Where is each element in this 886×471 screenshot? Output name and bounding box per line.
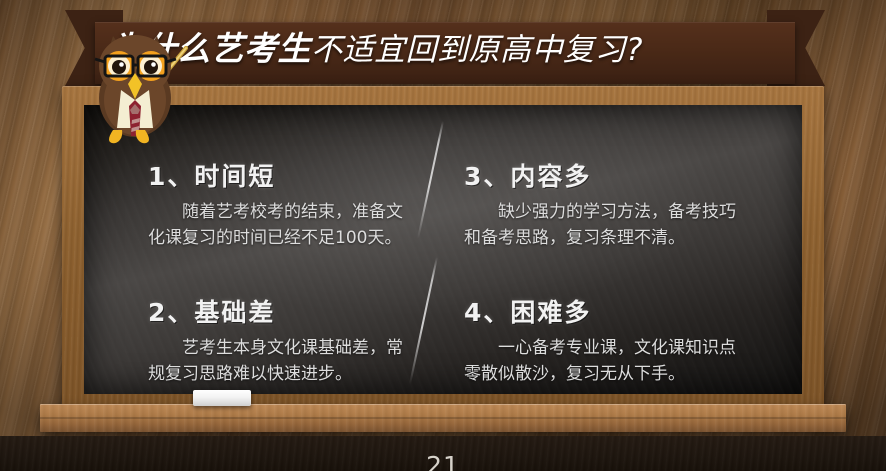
content-block-1: 1、时间短 随着艺考校考的结束，准备文化课复习的时间已经不足100天。 <box>148 157 408 252</box>
chalk-tray-shelf <box>40 404 846 432</box>
content-blocks: 1、时间短 随着艺考校考的结束，准备文化课复习的时间已经不足100天。 2、基础… <box>84 105 802 394</box>
block-1-heading: 1、时间短 <box>148 157 408 193</box>
owl-mascot-icon <box>83 26 193 144</box>
content-block-4: 4、困难多 一心备考专业课，文化课知识点零散似散沙，复习无从下手。 <box>464 293 744 388</box>
content-block-3: 3、内容多 缺少强力的学习方法，备考技巧和备考思路，复习条理不清。 <box>464 157 744 252</box>
block-3-heading: 3、内容多 <box>464 157 744 193</box>
blackboard-surface: 1、时间短 随着艺考校考的结束，准备文化课复习的时间已经不足100天。 2、基础… <box>84 105 802 394</box>
block-2-heading: 2、基础差 <box>148 293 408 329</box>
block-1-body: 随着艺考校考的结束，准备文化课复习的时间已经不足100天。 <box>148 200 408 252</box>
slide-canvas: 为什么艺考生不适宜回到原高中复习? <box>0 0 886 471</box>
divider-line-top <box>417 121 443 239</box>
block-3-body: 缺少强力的学习方法，备考技巧和备考思路，复习条理不清。 <box>464 200 744 252</box>
chalk-eraser-icon <box>193 390 251 406</box>
page-title: 为什么艺考生不适宜回到原高中复习? <box>110 18 860 74</box>
content-block-2: 2、基础差 艺考生本身文化课基础差，常规复习思路难以快速进步。 <box>148 293 408 388</box>
page-title-rest: 不适宜回到原高中复习? <box>311 24 643 69</box>
block-4-body: 一心备考专业课，文化课知识点零散似散沙，复习无从下手。 <box>464 336 744 388</box>
divider-line-bottom <box>409 257 437 384</box>
shelf-edge-line <box>40 417 846 419</box>
page-number: 21 <box>0 451 886 471</box>
block-4-heading: 4、困难多 <box>464 293 744 329</box>
block-2-body: 艺考生本身文化课基础差，常规复习思路难以快速进步。 <box>148 336 408 388</box>
